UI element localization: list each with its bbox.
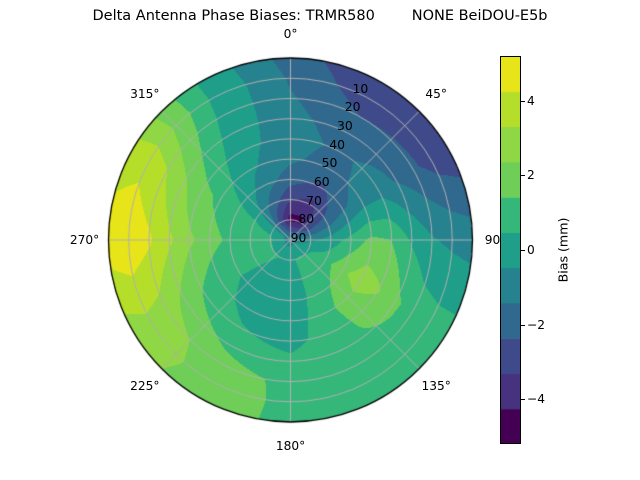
colorbar-tick-label: 0 — [527, 244, 535, 256]
radial-tick-90: 90 — [291, 232, 307, 244]
angular-tick-225: 225° — [130, 380, 159, 392]
colorbar-tick-mark — [521, 399, 525, 400]
colorbar-tick-label: −2 — [527, 319, 545, 331]
radial-tick-80: 80 — [298, 213, 314, 225]
radial-tick-70: 70 — [306, 194, 322, 206]
figure-root: Delta Antenna Phase Biases: TRMR580 NONE… — [0, 0, 640, 480]
angular-tick-315: 315° — [130, 88, 159, 100]
angular-tick-270: 270° — [70, 234, 99, 246]
radial-tick-60: 60 — [314, 176, 330, 188]
colorbar-tick-label: 4 — [527, 95, 535, 107]
radial-tick-20: 20 — [345, 101, 361, 113]
colorbar-gradient — [500, 56, 521, 444]
colorbar-tick-mark — [521, 175, 525, 176]
angular-tick-135: 135° — [421, 380, 450, 392]
colorbar-tick-label: 2 — [527, 169, 535, 181]
radial-tick-50: 50 — [322, 157, 338, 169]
colorbar-axis-label: Bias (mm) — [556, 218, 571, 283]
colorbar-tick-mark — [521, 101, 525, 102]
colorbar-tick-label: −4 — [527, 393, 545, 405]
radial-tick-30: 30 — [337, 120, 353, 132]
radial-tick-10: 10 — [353, 82, 369, 94]
angular-tick-0: 0° — [284, 28, 298, 40]
angular-tick-90: 90 — [484, 233, 502, 247]
colorbar-tick-mark — [521, 250, 525, 251]
angular-tick-45: 45° — [425, 88, 447, 100]
angular-tick-180: 180° — [276, 440, 305, 452]
radial-tick-40: 40 — [329, 138, 345, 150]
colorbar-tick-mark — [521, 325, 525, 326]
